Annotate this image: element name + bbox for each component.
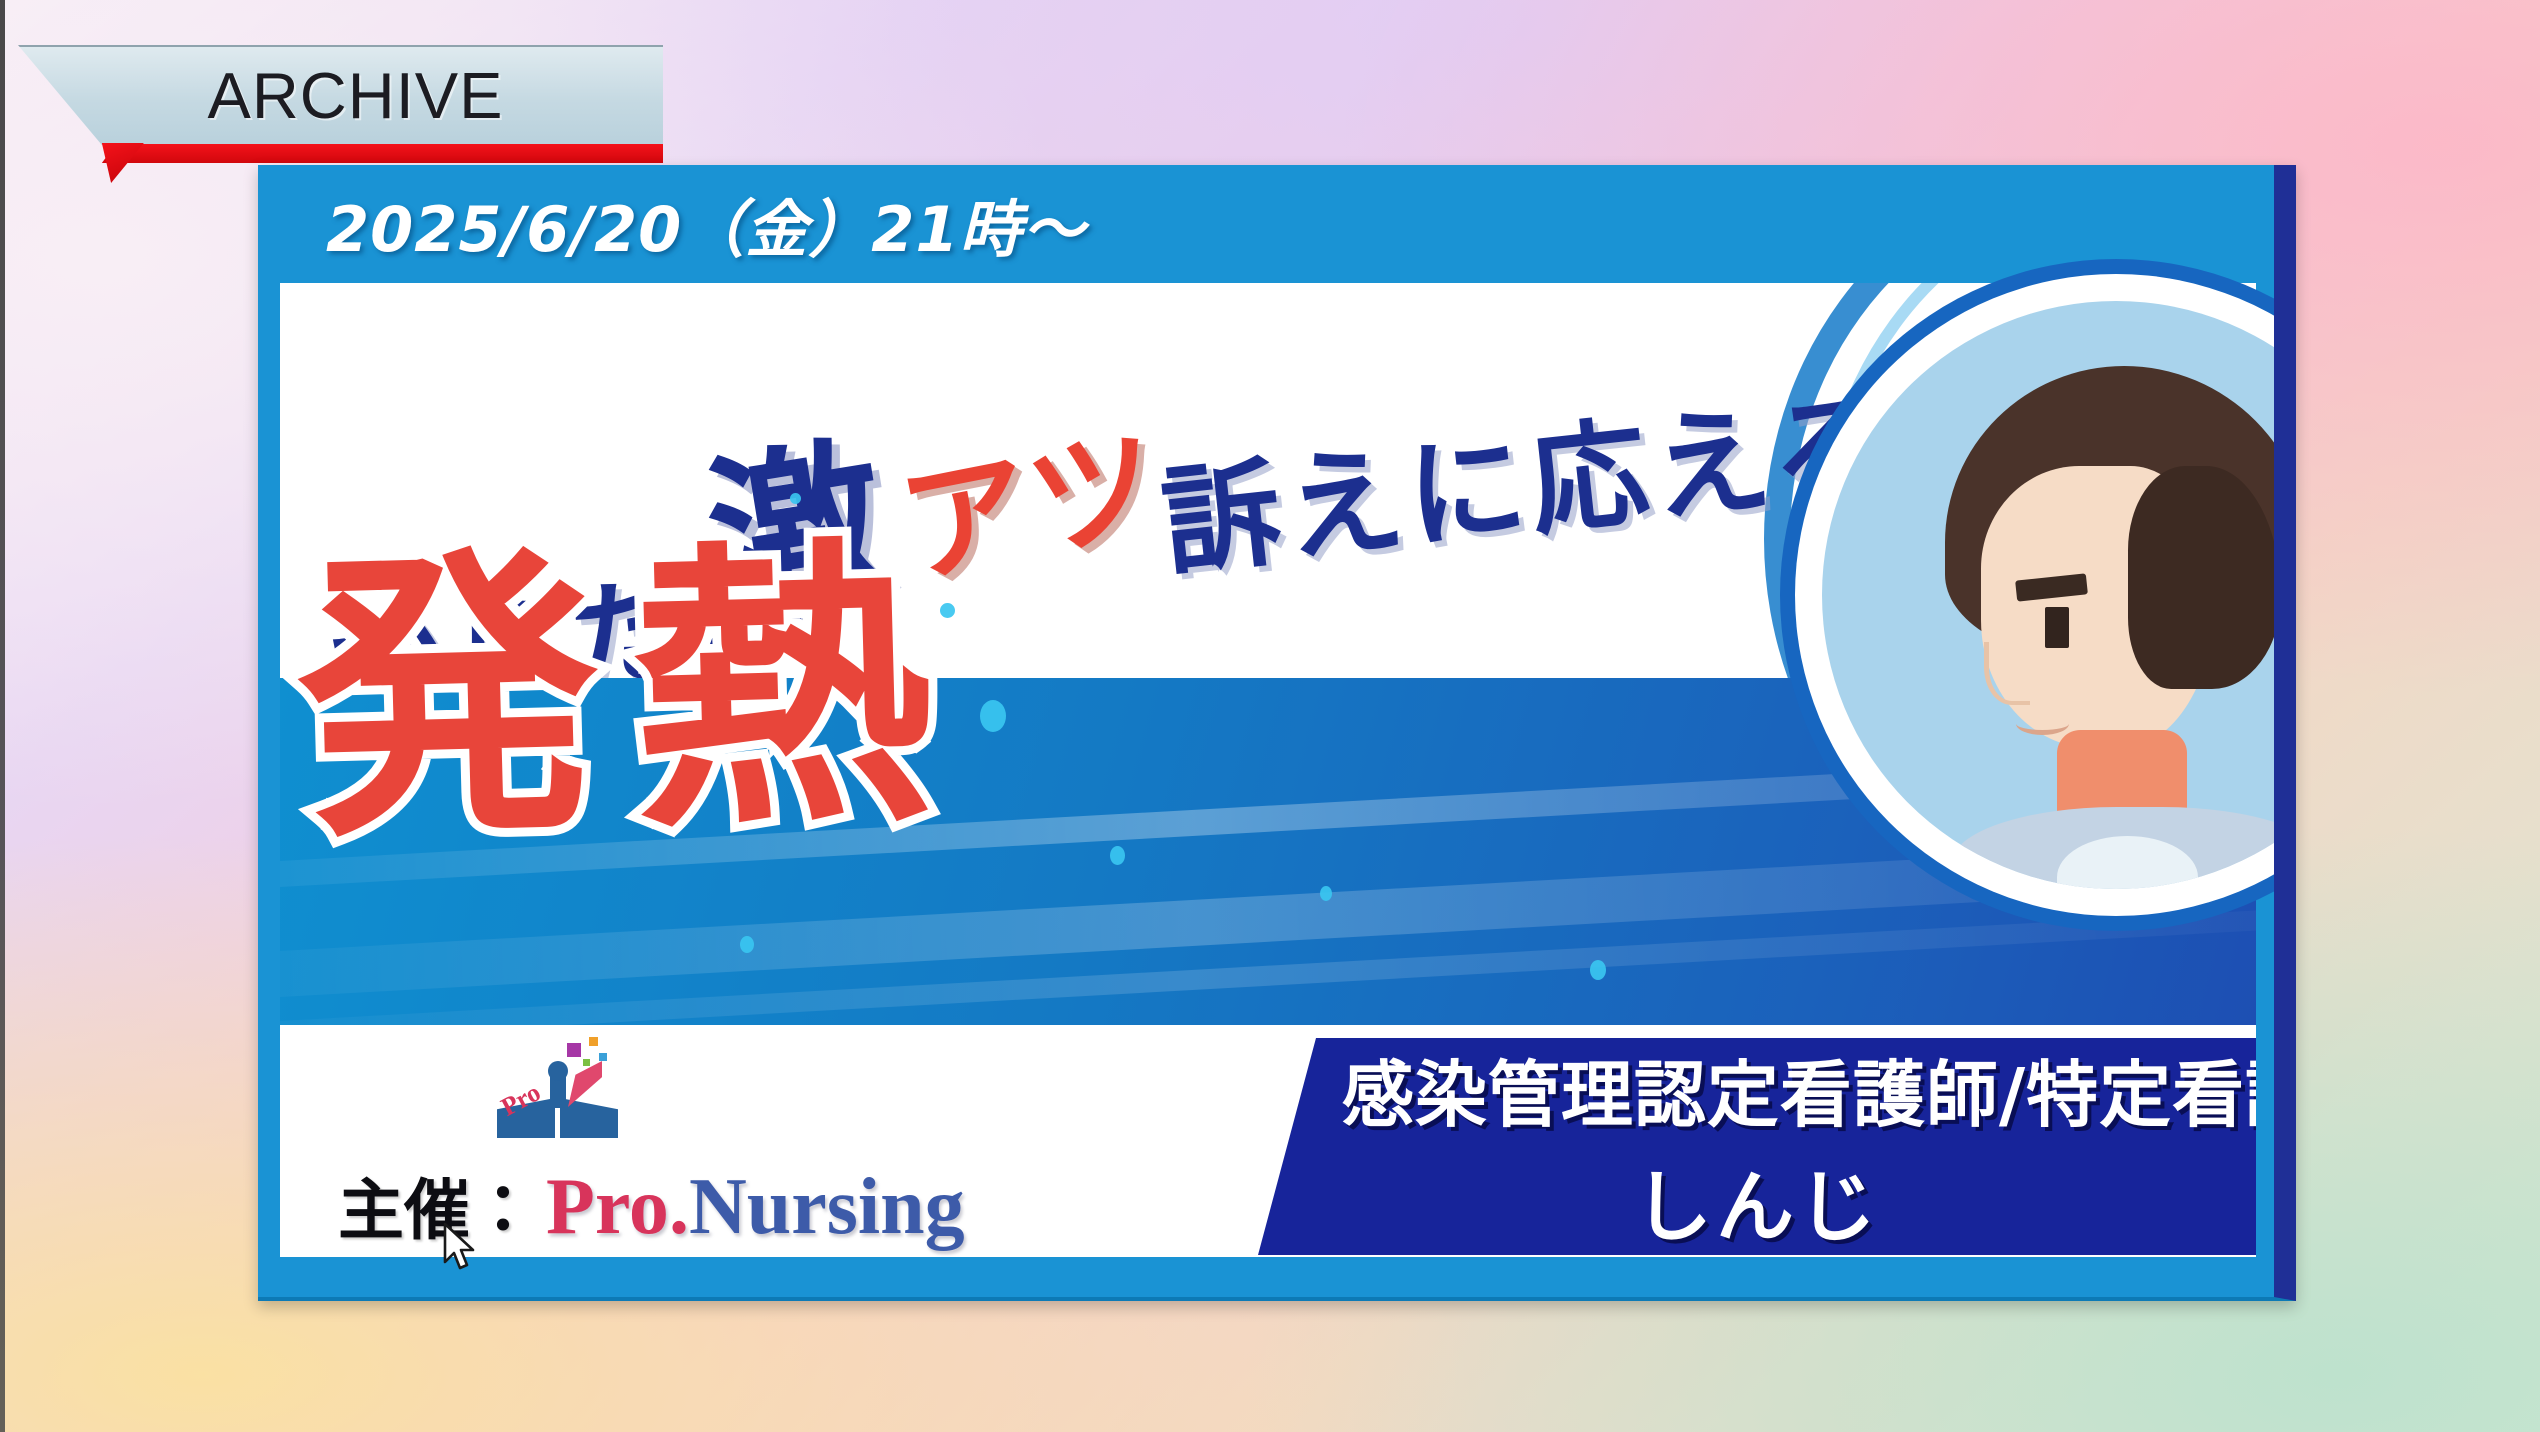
archive-tab[interactable]: ARCHIVE xyxy=(18,45,663,145)
logo-confetti-square xyxy=(583,1059,590,1066)
avatar-nose xyxy=(1984,642,2030,705)
frame-left-edge xyxy=(0,0,5,1432)
logo-figure-head xyxy=(548,1061,568,1081)
date-banner-text: 2025/6/20（金）21時〜 xyxy=(326,179,1086,269)
logo-confetti-square xyxy=(589,1037,598,1046)
bokeh-dot xyxy=(740,936,754,953)
archive-tab-label: ARCHIVE xyxy=(18,45,663,145)
bokeh-dot xyxy=(1110,846,1125,865)
screen-canvas: ARCHIVE 2025/6/20（金）21時〜 からだの 激 アツ 訴えに応え… xyxy=(0,0,2540,1432)
bokeh-dot xyxy=(980,700,1006,732)
host-label: 主催： xyxy=(338,1157,536,1253)
instructor-banner: 講師 感染管理認定看護師/特定看護師 しんじ xyxy=(1258,1038,2256,1255)
mouse-pointer-icon xyxy=(443,1222,477,1272)
seminar-flyer-card[interactable]: 2025/6/20（金）21時〜 からだの 激 アツ 訴えに応える xyxy=(258,165,2296,1301)
pro-nursing-logo-icon: Pro xyxy=(495,1037,620,1142)
main-title-fever: 発熱 xyxy=(294,536,970,853)
host-brand-name: Pro.Nursing xyxy=(546,1162,965,1253)
host-line: 主催： Pro.Nursing xyxy=(338,1157,965,1253)
avatar-eye xyxy=(2045,607,2069,648)
logo-confetti-square xyxy=(599,1053,607,1061)
bokeh-dot xyxy=(790,493,801,504)
instructor-name-line: しんじ xyxy=(1634,1145,1880,1257)
date-banner: 2025/6/20（金）21時〜 xyxy=(258,165,2274,283)
archive-tab-accent-bar xyxy=(102,144,663,163)
bokeh-dot xyxy=(1320,886,1332,901)
logo-confetti-square xyxy=(567,1043,581,1057)
brand-pro-text: Pro xyxy=(546,1163,669,1251)
archive-tab-accent-tail xyxy=(102,143,144,183)
avatar-inner-circle xyxy=(1822,301,2296,889)
bokeh-dot xyxy=(1590,960,1606,980)
brand-dot-text: . xyxy=(669,1163,689,1251)
brand-nursing-text: Nursing xyxy=(689,1163,965,1251)
logo-accent-swish xyxy=(568,1061,602,1107)
